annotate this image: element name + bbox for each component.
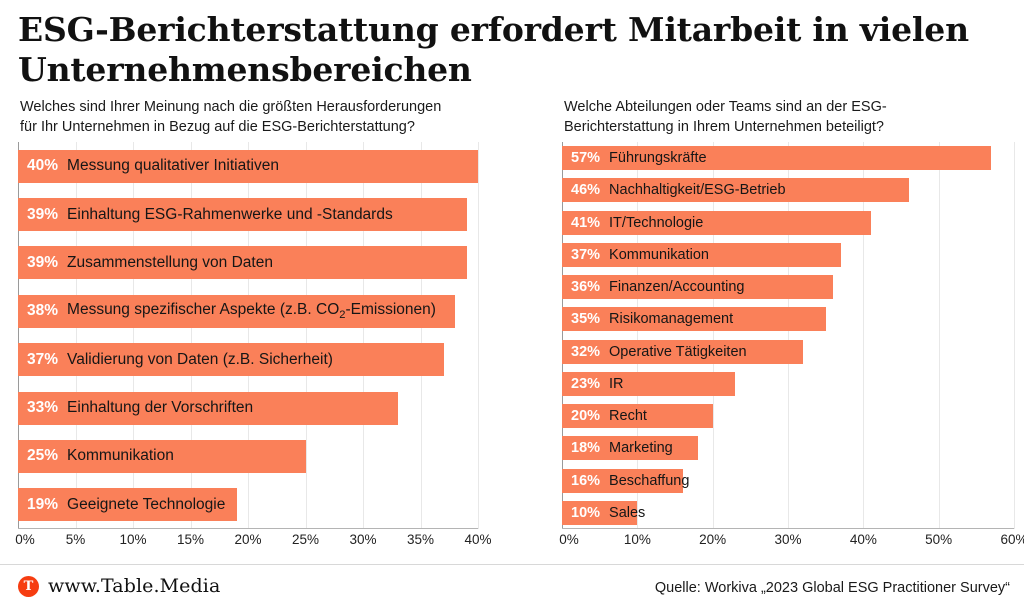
bar-row[interactable]: 10%Sales bbox=[562, 501, 1014, 525]
x-tick-label: 40% bbox=[850, 532, 877, 547]
bar-value-label: 37% bbox=[571, 247, 600, 263]
bar-value-label: 33% bbox=[27, 399, 58, 417]
x-tick-label: 20% bbox=[699, 532, 726, 547]
bar-category-label: Einhaltung ESG-Rahmenwerke und -Standard… bbox=[67, 206, 393, 224]
bar-row[interactable]: 37%Kommunikation bbox=[562, 243, 1014, 267]
bar-value-label: 25% bbox=[27, 447, 58, 465]
bar-value-label: 35% bbox=[571, 311, 600, 327]
bar-category-label: Risikomanagement bbox=[609, 311, 733, 327]
bar-row[interactable]: 32%Operative Tätigkeiten bbox=[562, 340, 1014, 364]
bar-row[interactable]: 39%Zusammenstellung von Daten bbox=[18, 246, 478, 279]
x-axis-ticks-departments: 0%10%20%30%40%50%60% bbox=[562, 532, 1014, 554]
bar-value-label: 37% bbox=[27, 351, 58, 369]
bar-row[interactable]: 33%Einhaltung der Vorschriften bbox=[18, 392, 478, 425]
footer-divider bbox=[0, 564, 1024, 565]
x-tick-label: 25% bbox=[292, 532, 319, 547]
x-axis-ticks-challenges: 0%5%10%15%20%25%30%35%40% bbox=[18, 532, 478, 554]
bar-category-label: IR bbox=[609, 376, 624, 392]
bar-row[interactable]: 18%Marketing bbox=[562, 436, 1014, 460]
x-tick-label: 5% bbox=[66, 532, 86, 547]
bar-value-label: 41% bbox=[571, 215, 600, 231]
bar-category-label: Kommunikation bbox=[67, 447, 174, 465]
bar-row[interactable]: 39%Einhaltung ESG-Rahmenwerke und -Stand… bbox=[18, 198, 478, 231]
bar-category-label: Geeignete Technologie bbox=[67, 496, 225, 514]
x-tick-label: 30% bbox=[349, 532, 376, 547]
bar-category-label: Kommunikation bbox=[609, 247, 709, 263]
bar-category-label: IT/Technologie bbox=[609, 215, 703, 231]
x-tick-label: 0% bbox=[559, 532, 579, 547]
chart-subtitle-departments: Welche Abteilungen oder Teams sind an de… bbox=[564, 98, 1024, 142]
chart-subtitle-challenges: Welches sind Ihrer Meinung nach die größ… bbox=[20, 98, 546, 142]
plot-area-departments: 57%Führungskräfte46%Nachhaltigkeit/ESG-B… bbox=[562, 142, 1014, 529]
bar-category-label: Sales bbox=[609, 505, 645, 521]
bar-category-label: Einhaltung der Vorschriften bbox=[67, 399, 253, 417]
gridline bbox=[478, 142, 479, 529]
x-axis-line-departments bbox=[562, 528, 1014, 529]
bar-row[interactable]: 35%Risikomanagement bbox=[562, 307, 1014, 331]
bar-row[interactable]: 23%IR bbox=[562, 372, 1014, 396]
bar-category-label: Zusammenstellung von Daten bbox=[67, 254, 273, 272]
x-tick-label: 40% bbox=[464, 532, 491, 547]
bar-category-label: Nachhaltigkeit/ESG-Betrieb bbox=[609, 182, 786, 198]
brand[interactable]: T www.Table.Media bbox=[18, 575, 220, 597]
bar-category-label: Führungskräfte bbox=[609, 150, 707, 166]
bar-value-label: 10% bbox=[571, 505, 600, 521]
bar-row[interactable]: 25%Kommunikation bbox=[18, 440, 478, 473]
page-title: ESG-Berichterstattung erfordert Mitarbei… bbox=[18, 10, 978, 90]
bar-row[interactable]: 37%Validierung von Daten (z.B. Sicherhei… bbox=[18, 343, 478, 376]
x-tick-label: 10% bbox=[624, 532, 651, 547]
chart-panel-departments: Welche Abteilungen oder Teams sind an de… bbox=[562, 98, 1024, 554]
x-tick-label: 0% bbox=[15, 532, 35, 547]
plot-area-challenges: 40%Messung qualitativer Initiativen39%Ei… bbox=[18, 142, 478, 529]
footer: T www.Table.Media Quelle: Workiva „2023 … bbox=[0, 564, 1024, 609]
bar-category-label: Messung qualitativer Initiativen bbox=[67, 157, 279, 175]
bar-category-label: Operative Tätigkeiten bbox=[609, 344, 747, 360]
chart-panel-challenges: Welches sind Ihrer Meinung nach die größ… bbox=[18, 98, 546, 554]
x-tick-label: 10% bbox=[119, 532, 146, 547]
bar-value-label: 46% bbox=[571, 182, 600, 198]
bar-value-label: 38% bbox=[27, 302, 58, 320]
bar-value-label: 39% bbox=[27, 254, 58, 272]
bar-value-label: 19% bbox=[27, 496, 58, 514]
x-axis-line-challenges bbox=[18, 528, 478, 529]
bar-row[interactable]: 16%Beschaffung bbox=[562, 469, 1014, 493]
bar-category-label: Finanzen/Accounting bbox=[609, 279, 744, 295]
x-tick-label: 60% bbox=[1000, 532, 1024, 547]
bar-value-label: 32% bbox=[571, 344, 600, 360]
bar-row[interactable]: 36%Finanzen/Accounting bbox=[562, 275, 1014, 299]
bar-value-label: 20% bbox=[571, 408, 600, 424]
bar-value-label: 23% bbox=[571, 376, 600, 392]
bar-value-label: 39% bbox=[27, 206, 58, 224]
bar-value-label: 57% bbox=[571, 150, 600, 166]
x-tick-label: 50% bbox=[925, 532, 952, 547]
bar-category-label: Messung spezifischer Aspekte (z.B. CO2-E… bbox=[67, 301, 436, 321]
bar-series-departments: 57%Führungskräfte46%Nachhaltigkeit/ESG-B… bbox=[562, 142, 1014, 529]
bar-category-label: Validierung von Daten (z.B. Sicherheit) bbox=[67, 351, 333, 369]
gridline bbox=[1014, 142, 1015, 529]
bar-category-label: Recht bbox=[609, 408, 647, 424]
bar-row[interactable]: 41%IT/Technologie bbox=[562, 211, 1014, 235]
bar-value-label: 16% bbox=[571, 473, 600, 489]
bar-row[interactable]: 19%Geeignete Technologie bbox=[18, 488, 478, 521]
bar-value-label: 40% bbox=[27, 157, 58, 175]
bar-row[interactable]: 57%Führungskräfte bbox=[562, 146, 1014, 170]
bar-row[interactable]: 46%Nachhaltigkeit/ESG-Betrieb bbox=[562, 178, 1014, 202]
bar-value-label: 18% bbox=[571, 440, 600, 456]
x-tick-label: 15% bbox=[177, 532, 204, 547]
x-tick-label: 30% bbox=[774, 532, 801, 547]
x-tick-label: 20% bbox=[234, 532, 261, 547]
source-note: Quelle: Workiva „2023 Global ESG Practit… bbox=[655, 580, 1010, 596]
bar-category-label: Beschaffung bbox=[609, 473, 689, 489]
bar-category-label: Marketing bbox=[609, 440, 673, 456]
bar-row[interactable]: 38%Messung spezifischer Aspekte (z.B. CO… bbox=[18, 295, 478, 328]
bar-row[interactable]: 40%Messung qualitativer Initiativen bbox=[18, 150, 478, 183]
bar-series-challenges: 40%Messung qualitativer Initiativen39%Ei… bbox=[18, 142, 478, 529]
table-media-logo-icon: T bbox=[18, 576, 39, 597]
x-tick-label: 35% bbox=[407, 532, 434, 547]
brand-url: www.Table.Media bbox=[48, 575, 220, 597]
bar-row[interactable]: 20%Recht bbox=[562, 404, 1014, 428]
bar-value-label: 36% bbox=[571, 279, 600, 295]
